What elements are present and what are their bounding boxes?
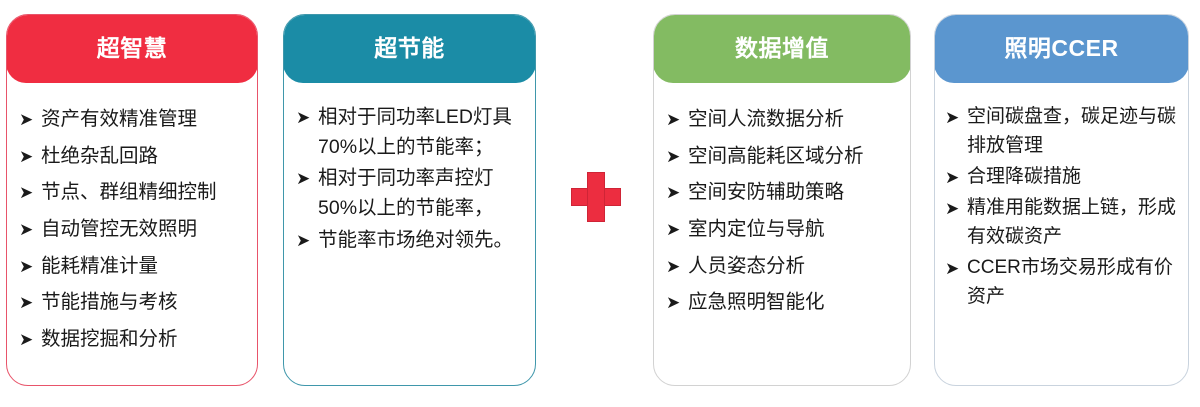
list-item: ➤ 空间碳盘查，碳足迹与碳排放管理 [945,103,1182,161]
arrow-bullet-icon: ➤ [296,103,318,132]
plus-icon-vertical-bar [587,172,605,222]
arrow-bullet-icon: ➤ [945,103,967,132]
list-item-label: 节能率市场绝对领先。 [318,226,525,256]
card-header-chao-jie-neng: 超节能 [283,14,536,83]
feature-card-zhao-ming-ccer: 照明CCER ➤ 空间碳盘查，碳足迹与碳排放管理 ➤ 合理降碳措施 ➤ 精准用能… [934,14,1189,386]
card-title: 照明CCER [1004,37,1118,60]
card-header-shu-ju-zeng-zhi: 数据增值 [653,14,911,83]
list-item-label: 空间人流数据分析 [688,105,900,135]
arrow-bullet-icon: ➤ [19,325,41,354]
list-item: ➤ 杜绝杂乱回路 [19,142,247,172]
list-item: ➤ 相对于同功率LED灯具 70%以上的节能率； [296,103,525,162]
card-header-chao-zhi-hui: 超智慧 [6,14,258,83]
list-item: ➤ 资产有效精准管理 [19,105,247,135]
card-title: 数据增值 [735,37,829,60]
list-item: ➤ 数据挖掘和分析 [19,325,247,355]
list-item-label: 自动管控无效照明 [41,215,247,245]
list-item-label: 相对于同功率声控灯 50%以上的节能率， [318,164,525,223]
list-item-label: 空间碳盘查，碳足迹与碳排放管理 [967,103,1182,161]
arrow-bullet-icon: ➤ [296,226,318,255]
card-title: 超节能 [374,37,445,60]
arrow-bullet-icon: ➤ [666,252,688,281]
feature-card-shu-ju-zeng-zhi: 数据增值 ➤ 空间人流数据分析 ➤ 空间高能耗区域分析 ➤ 空间安防辅助策略 ➤ [653,14,911,386]
list-item: ➤ 应急照明智能化 [666,288,900,318]
arrow-bullet-icon: ➤ [19,288,41,317]
arrow-bullet-icon: ➤ [666,215,688,244]
feature-list: ➤ 相对于同功率LED灯具 70%以上的节能率； ➤ 相对于同功率声控灯 50%… [296,103,525,255]
arrow-bullet-icon: ➤ [19,142,41,171]
feature-list: ➤ 资产有效精准管理 ➤ 杜绝杂乱回路 ➤ 节点、群组精细控制 ➤ 自动管控无效… [19,105,247,354]
arrow-bullet-icon: ➤ [666,105,688,134]
list-item-label: 数据挖掘和分析 [41,325,247,355]
list-item-label: 节能措施与考核 [41,288,247,318]
list-item-label: 空间高能耗区域分析 [688,142,900,172]
arrow-bullet-icon: ➤ [666,288,688,317]
arrow-bullet-icon: ➤ [19,215,41,244]
card-body: ➤ 空间碳盘查，碳足迹与碳排放管理 ➤ 合理降碳措施 ➤ 精准用能数据上链，形成… [935,83,1188,385]
arrow-bullet-icon: ➤ [666,142,688,171]
list-item-label: 资产有效精准管理 [41,105,247,135]
list-item-label: 相对于同功率LED灯具 70%以上的节能率； [318,103,525,162]
list-item-label: 能耗精准计量 [41,252,247,282]
list-item-label: 应急照明智能化 [688,288,900,318]
list-item-label: 室内定位与导航 [688,215,900,245]
feature-card-chao-jie-neng: 超节能 ➤ 相对于同功率LED灯具 70%以上的节能率； ➤ 相对于同功率声控灯… [283,14,536,386]
feature-list: ➤ 空间人流数据分析 ➤ 空间高能耗区域分析 ➤ 空间安防辅助策略 ➤ 室内定位… [666,105,900,318]
arrow-bullet-icon: ➤ [296,164,318,193]
list-item: ➤ 节点、群组精细控制 [19,178,247,208]
list-item: ➤ 相对于同功率声控灯 50%以上的节能率， [296,164,525,223]
list-item: ➤ 节能措施与考核 [19,288,247,318]
card-body: ➤ 资产有效精准管理 ➤ 杜绝杂乱回路 ➤ 节点、群组精细控制 ➤ 自动管控无效… [7,83,257,385]
list-item: ➤ 能耗精准计量 [19,252,247,282]
arrow-bullet-icon: ➤ [945,194,967,223]
card-title: 超智慧 [97,37,168,60]
plus-icon [571,172,621,222]
arrow-bullet-icon: ➤ [945,254,967,283]
list-item: ➤ 节能率市场绝对领先。 [296,226,525,256]
list-item-label: CCER市场交易形成有价资产 [967,254,1182,312]
card-header-zhao-ming-ccer: 照明CCER [934,14,1189,83]
four-pillar-feature-board: 超智慧 ➤ 资产有效精准管理 ➤ 杜绝杂乱回路 ➤ 节点、群组精细控制 ➤ 自动 [0,0,1200,407]
arrow-bullet-icon: ➤ [666,178,688,207]
arrow-bullet-icon: ➤ [945,163,967,192]
card-body: ➤ 空间人流数据分析 ➤ 空间高能耗区域分析 ➤ 空间安防辅助策略 ➤ 室内定位… [654,83,910,385]
card-body: ➤ 相对于同功率LED灯具 70%以上的节能率； ➤ 相对于同功率声控灯 50%… [284,83,535,385]
list-item-label: 节点、群组精细控制 [41,178,247,208]
list-item-label: 杜绝杂乱回路 [41,142,247,172]
arrow-bullet-icon: ➤ [19,105,41,134]
list-item: ➤ 精准用能数据上链，形成有效碳资产 [945,194,1182,252]
list-item: ➤ 合理降碳措施 [945,163,1182,192]
list-item: ➤ 空间安防辅助策略 [666,178,900,208]
arrow-bullet-icon: ➤ [19,178,41,207]
list-item-label: 人员姿态分析 [688,252,900,282]
list-item-label: 空间安防辅助策略 [688,178,900,208]
feature-card-chao-zhi-hui: 超智慧 ➤ 资产有效精准管理 ➤ 杜绝杂乱回路 ➤ 节点、群组精细控制 ➤ 自动 [6,14,258,386]
list-item-label: 精准用能数据上链，形成有效碳资产 [967,194,1182,252]
list-item-label: 合理降碳措施 [967,163,1182,192]
list-item: ➤ 空间高能耗区域分析 [666,142,900,172]
list-item: ➤ 自动管控无效照明 [19,215,247,245]
list-item: ➤ 人员姿态分析 [666,252,900,282]
list-item: ➤ CCER市场交易形成有价资产 [945,254,1182,312]
feature-list: ➤ 空间碳盘查，碳足迹与碳排放管理 ➤ 合理降碳措施 ➤ 精准用能数据上链，形成… [945,103,1182,311]
list-item: ➤ 空间人流数据分析 [666,105,900,135]
arrow-bullet-icon: ➤ [19,252,41,281]
list-item: ➤ 室内定位与导航 [666,215,900,245]
